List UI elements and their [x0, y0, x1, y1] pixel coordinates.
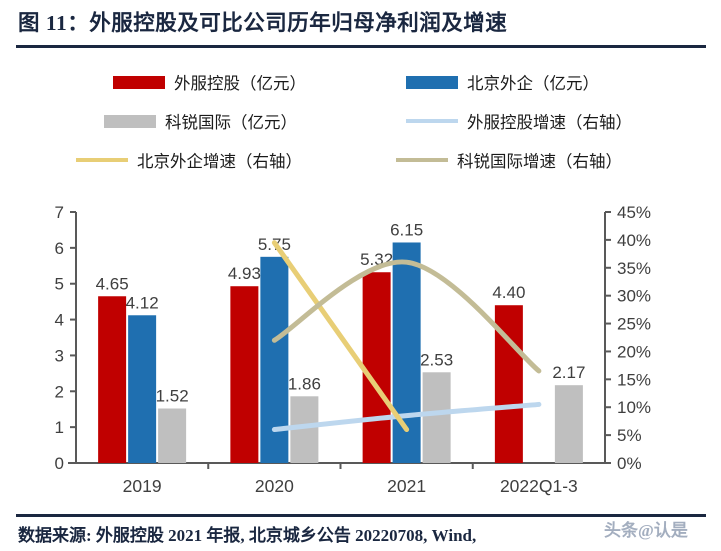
- chart-bar: [260, 257, 288, 463]
- legend-swatch-line-icon: [396, 158, 448, 162]
- x-axis-category-label: 2022Q1-3: [500, 476, 578, 496]
- bar-value-label: 1.52: [156, 386, 189, 405]
- legend-swatch-line-icon: [406, 119, 458, 123]
- bar-value-label: 1.86: [288, 374, 321, 393]
- right-axis-tick-label: 20%: [617, 342, 651, 361]
- legend-item[interactable]: 外服控股增速（右轴）: [406, 109, 632, 133]
- x-axis-category-label: 2021: [387, 476, 426, 496]
- chart-bar: [423, 372, 451, 463]
- right-axis-tick-label: 45%: [617, 203, 651, 222]
- right-axis-tick-label: 30%: [617, 287, 651, 306]
- chart-bar: [230, 286, 258, 463]
- legend-item-label: 外服控股增速（右轴）: [467, 109, 632, 133]
- chart-bar: [363, 272, 391, 463]
- bar-value-label: 4.65: [96, 274, 129, 293]
- bar-value-label: 4.93: [228, 264, 261, 283]
- left-axis-tick-label: 1: [55, 418, 64, 437]
- legend-item[interactable]: 外服控股（亿元）: [113, 70, 306, 94]
- legend-item[interactable]: 科锐国际增速（右轴）: [396, 148, 622, 172]
- legend-item-label: 外服控股（亿元）: [174, 70, 306, 94]
- legend-item[interactable]: 北京外企增速（右轴）: [76, 148, 302, 172]
- bar-value-label: 4.12: [126, 293, 159, 312]
- chart-bar: [128, 315, 156, 463]
- figure-title-bar: 图 11：外服控股及可比公司历年归母净利润及增速: [0, 0, 721, 52]
- left-axis-tick-label: 0: [55, 454, 64, 473]
- left-axis-tick-label: 5: [55, 275, 64, 294]
- bar-value-label: 6.15: [390, 220, 423, 239]
- watermark-label: 头条@认是: [604, 516, 688, 541]
- x-axis-category-label: 2019: [123, 476, 162, 496]
- chart-plot-area: 012345670%5%10%15%20%25%30%35%40%45%2019…: [0, 196, 721, 506]
- right-axis-tick-label: 10%: [617, 398, 651, 417]
- right-axis-tick-label: 0%: [617, 454, 642, 473]
- x-axis-category-label: 2020: [255, 476, 294, 496]
- legend-item[interactable]: 科锐国际（亿元）: [104, 109, 297, 133]
- legend-swatch-bar-icon: [104, 115, 156, 128]
- right-axis-tick-label: 15%: [617, 370, 651, 389]
- legend-swatch-bar-icon: [406, 76, 458, 89]
- legend-item-label: 北京外企（亿元）: [467, 70, 599, 94]
- legend-swatch-line-icon: [76, 158, 128, 162]
- left-axis-tick-label: 7: [55, 203, 64, 222]
- chart-svg: 012345670%5%10%15%20%25%30%35%40%45%2019…: [0, 196, 721, 506]
- bar-value-label: 2.17: [552, 363, 585, 382]
- legend-item-label: 北京外企增速（右轴）: [137, 148, 302, 172]
- chart-bar: [158, 408, 186, 463]
- left-axis-tick-label: 3: [55, 346, 64, 365]
- chart-bar: [98, 296, 126, 463]
- bar-value-label: 4.40: [492, 283, 525, 302]
- title-divider: [16, 45, 706, 48]
- footer-divider: [16, 514, 706, 517]
- legend-swatch-bar-icon: [113, 76, 165, 89]
- page-title: 图 11：外服控股及可比公司历年归母净利润及增速: [18, 6, 507, 37]
- left-axis-tick-label: 2: [55, 382, 64, 401]
- right-axis-tick-label: 25%: [617, 315, 651, 334]
- bar-value-label: 2.53: [420, 350, 453, 369]
- left-axis-tick-label: 4: [55, 311, 64, 330]
- right-axis-tick-label: 40%: [617, 231, 651, 250]
- right-axis-tick-label: 35%: [617, 259, 651, 278]
- right-axis-tick-label: 5%: [617, 426, 642, 445]
- chart-bar: [555, 385, 583, 463]
- legend-item-label: 科锐国际（亿元）: [165, 109, 297, 133]
- legend-item-label: 科锐国际增速（右轴）: [457, 148, 622, 172]
- legend-item[interactable]: 北京外企（亿元）: [406, 70, 599, 94]
- left-axis-tick-label: 6: [55, 239, 64, 258]
- source-note: 数据来源: 外服控股 2021 年报, 北京城乡公告 20220708, Win…: [18, 521, 476, 546]
- chart-legend: 外服控股（亿元）北京外企（亿元）科锐国际（亿元）外服控股增速（右轴）北京外企增速…: [76, 66, 646, 181]
